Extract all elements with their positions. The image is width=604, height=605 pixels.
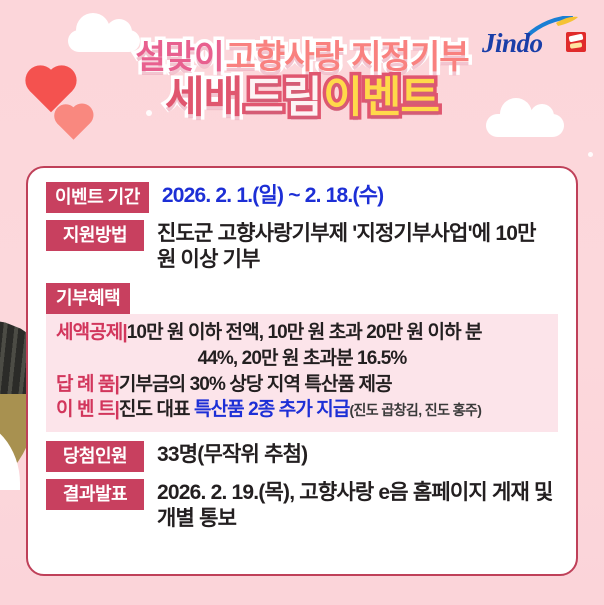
benefit-label-gift: 답 례 품 xyxy=(56,374,115,395)
benefits-section: 기부혜택 세액공제|10만 원 이하 전액, 10만 원 초과 20만 원 이하… xyxy=(46,283,558,432)
info-card: 이벤트 기간 2026. 2. 1.(일) ~ 2. 18.(수) 지원방법 진… xyxy=(26,166,578,576)
benefit-text-event-note: (진도 곱창김, 진도 홍주) xyxy=(349,402,481,418)
row-event-period: 이벤트 기간 2026. 2. 1.(일) ~ 2. 18.(수) xyxy=(46,182,558,213)
jindo-logo: Jindo xyxy=(482,14,586,60)
logo-text: Jindo xyxy=(482,28,543,59)
benefit-text-event-highlight: 특산품 2종 추가 지급 xyxy=(194,399,349,420)
benefit-row-gift: 답 례 품|기부금의 30% 상당 지역 특산품 제공 xyxy=(56,373,548,398)
sparkle-icon xyxy=(588,152,593,157)
badge-how-to-apply: 지원방법 xyxy=(46,220,144,251)
title-word-gohyangsarang: 고향사랑 지정기부 xyxy=(225,40,470,73)
value-how-to-apply: 진도군 고향사랑기부제 '지정기부사업'에 10만 원 이상 기부 xyxy=(144,220,558,272)
badge-donation-benefits: 기부혜택 xyxy=(46,283,130,314)
value-result-announcement: 2026. 2. 19.(목), 고향사랑 e음 홈페이지 게재 및 개별 통보 xyxy=(144,479,558,531)
title-word-deurim: 드림 xyxy=(243,77,322,120)
badge-result-announcement: 결과발표 xyxy=(46,479,144,510)
benefit-text-tax-deduction-line1: 10만 원 이하 전액, 10만 원 초과 20만 원 이하 분 xyxy=(127,322,482,343)
benefit-text-tax-deduction-line2: 44%, 20만 원 초과분 16.5% xyxy=(56,347,548,372)
title-word-sebae: 세배 xyxy=(164,77,243,120)
benefit-text-event-prefix: 진도 대표 xyxy=(119,399,194,420)
logo-mark-icon xyxy=(566,32,586,52)
benefits-panel: 세액공제|10만 원 이하 전액, 10만 원 초과 20만 원 이하 분 44… xyxy=(46,314,558,432)
benefit-row-event: 이 벤 트|진도 대표 특산품 2종 추가 지급(진도 곱창김, 진도 홍주) xyxy=(56,398,548,423)
title-line-2: 세배드림이벤트 xyxy=(0,77,604,120)
row-winners-count: 당첨인원 33명(무작위 추첨) xyxy=(46,441,558,472)
title-word-seolmaji: 설맞이 xyxy=(134,40,224,73)
title-word-event: 이벤트 xyxy=(322,77,440,120)
badge-winners-count: 당첨인원 xyxy=(46,441,144,472)
badge-event-period: 이벤트 기간 xyxy=(46,182,149,213)
row-result-announcement: 결과발표 2026. 2. 19.(목), 고향사랑 e음 홈페이지 게재 및 … xyxy=(46,479,558,531)
benefit-text-gift: 기부금의 30% 상당 지역 특산품 제공 xyxy=(119,374,392,395)
value-event-period: 2026. 2. 1.(일) ~ 2. 18.(수) xyxy=(149,182,558,209)
benefit-row-tax-deduction: 세액공제|10만 원 이하 전액, 10만 원 초과 20만 원 이하 분 xyxy=(56,321,548,346)
benefit-label-event: 이 벤 트 xyxy=(56,399,115,420)
benefit-label-tax-deduction: 세액공제 xyxy=(56,322,122,343)
value-winners-count: 33명(무작위 추첨) xyxy=(144,441,558,468)
row-how-to-apply: 지원방법 진도군 고향사랑기부제 '지정기부사업'에 10만 원 이상 기부 xyxy=(46,220,558,272)
